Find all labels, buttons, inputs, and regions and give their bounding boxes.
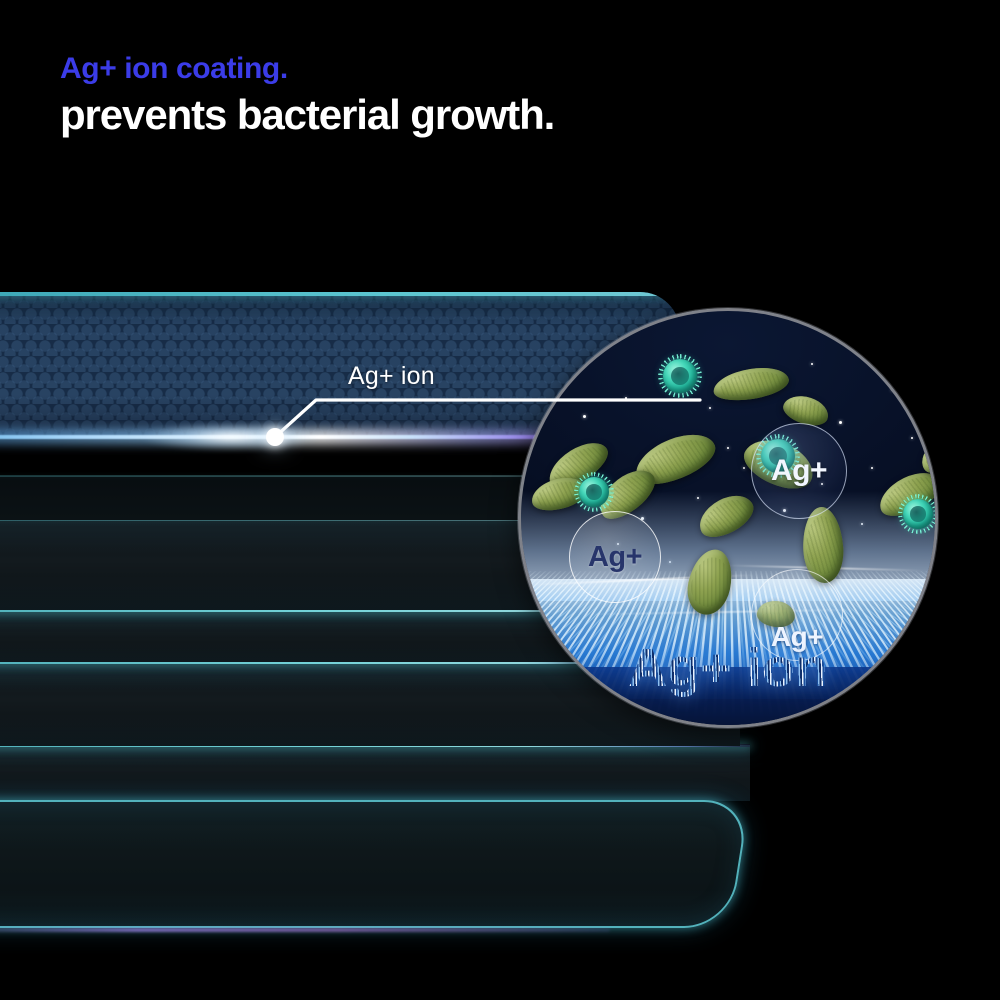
- headline-block: Ag+ ion coating. prevents bacterial grow…: [60, 50, 554, 140]
- callout-leader-line: [0, 0, 1000, 1000]
- headline-line-1: Ag+ ion coating.: [60, 50, 554, 88]
- headline-line-2: prevents bacterial growth.: [60, 90, 554, 140]
- product-illustration-stage: Ag+ Ag+ Ag+ Ag+ ion Ag+ ion: [0, 0, 1000, 1000]
- callout-point-marker: [266, 428, 284, 446]
